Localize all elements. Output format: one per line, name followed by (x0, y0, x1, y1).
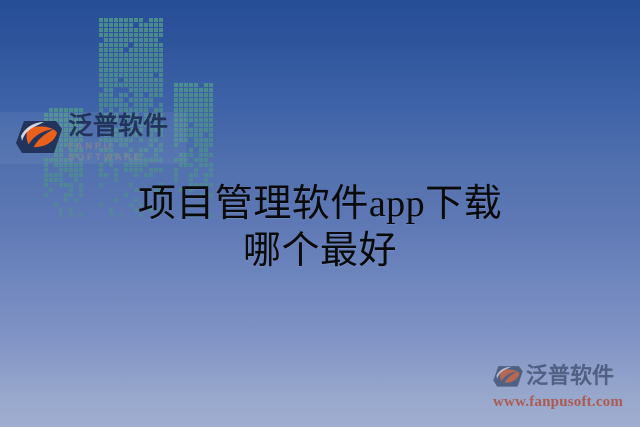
watermark-url: www.fanpusoft.com (492, 394, 634, 411)
brand-name-en: FANPU SOFTWARE (68, 141, 186, 163)
watermark: 泛普软件 www.fanpusoft.com (492, 361, 634, 417)
fanpu-logo-icon (14, 118, 64, 158)
page-title-line1: 项目管理软件app下载 (0, 181, 640, 228)
page-title: 项目管理软件app下载 哪个最好 (0, 181, 640, 275)
pixel-buildings-icon (44, 18, 150, 118)
promo-banner: 泛普软件 FANPU SOFTWARE 项目管理软件app下载 哪个最好 泛普软… (0, 0, 640, 427)
brand-name-cn: 泛普软件 (68, 113, 186, 139)
brand-wordmark: 泛普软件 FANPU SOFTWARE (68, 113, 186, 163)
fanpu-watermark-logo-icon (492, 364, 524, 390)
watermark-logo-row: 泛普软件 (492, 361, 634, 393)
watermark-name-cn: 泛普软件 (526, 366, 614, 388)
brand-logo: 泛普软件 FANPU SOFTWARE (0, 112, 186, 164)
page-title-line2: 哪个最好 (0, 228, 640, 275)
